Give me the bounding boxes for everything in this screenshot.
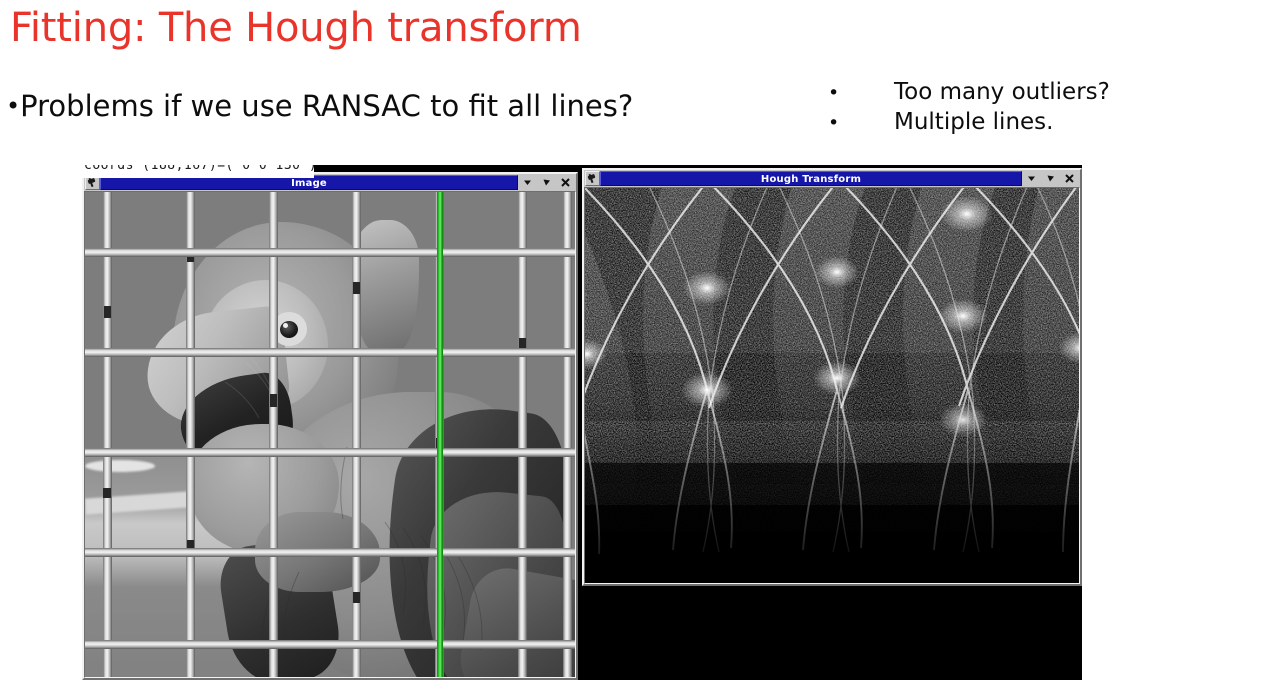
minimize-icon[interactable]: [518, 175, 537, 190]
close-icon[interactable]: [1060, 171, 1079, 186]
clipped-status-text: coords (188,167)=( 0 0 130 ): [82, 165, 314, 178]
bullet-left: •Problems if we use RANSAC to fit all li…: [6, 88, 633, 124]
pushpin-icon[interactable]: [585, 171, 600, 186]
right-bullet-text: Multiple lines.: [894, 108, 1053, 136]
bullet-marker-icon: •: [828, 82, 894, 104]
list-item: • Too many outliers?: [828, 78, 1258, 108]
image-window[interactable]: Image: [82, 172, 578, 680]
list-item: • Multiple lines.: [828, 108, 1258, 138]
hough-accumulator-plot: [585, 188, 1080, 584]
bullet-marker-icon: •: [6, 92, 20, 120]
parrot-image-canvas[interactable]: [84, 191, 576, 678]
cage-bars: [85, 192, 575, 677]
embedded-screenshot: coords (188,167)=( 0 0 130 ) Image: [82, 165, 1082, 680]
close-icon[interactable]: [556, 175, 575, 190]
desktop-background: [582, 586, 1082, 680]
maximize-icon[interactable]: [1041, 171, 1060, 186]
page-title: Fitting: The Hough transform: [10, 4, 582, 52]
hough-window-title: Hough Transform: [600, 171, 1022, 186]
hough-window[interactable]: Hough Transform: [582, 168, 1082, 586]
bullet-left-text: Problems if we use RANSAC to fit all lin…: [20, 89, 633, 123]
image-window-controls[interactable]: [518, 175, 575, 190]
hough-accumulator-canvas[interactable]: [584, 187, 1080, 584]
bullet-marker-icon: •: [828, 112, 894, 134]
detected-line-overlay: [437, 192, 443, 677]
maximize-icon[interactable]: [537, 175, 556, 190]
right-bullet-text: Too many outliers?: [894, 78, 1110, 106]
hough-window-controls[interactable]: [1022, 171, 1079, 186]
hough-window-titlebar[interactable]: Hough Transform: [584, 170, 1080, 187]
minimize-icon[interactable]: [1022, 171, 1041, 186]
right-bullet-list: • Too many outliers? • Multiple lines.: [828, 78, 1258, 138]
